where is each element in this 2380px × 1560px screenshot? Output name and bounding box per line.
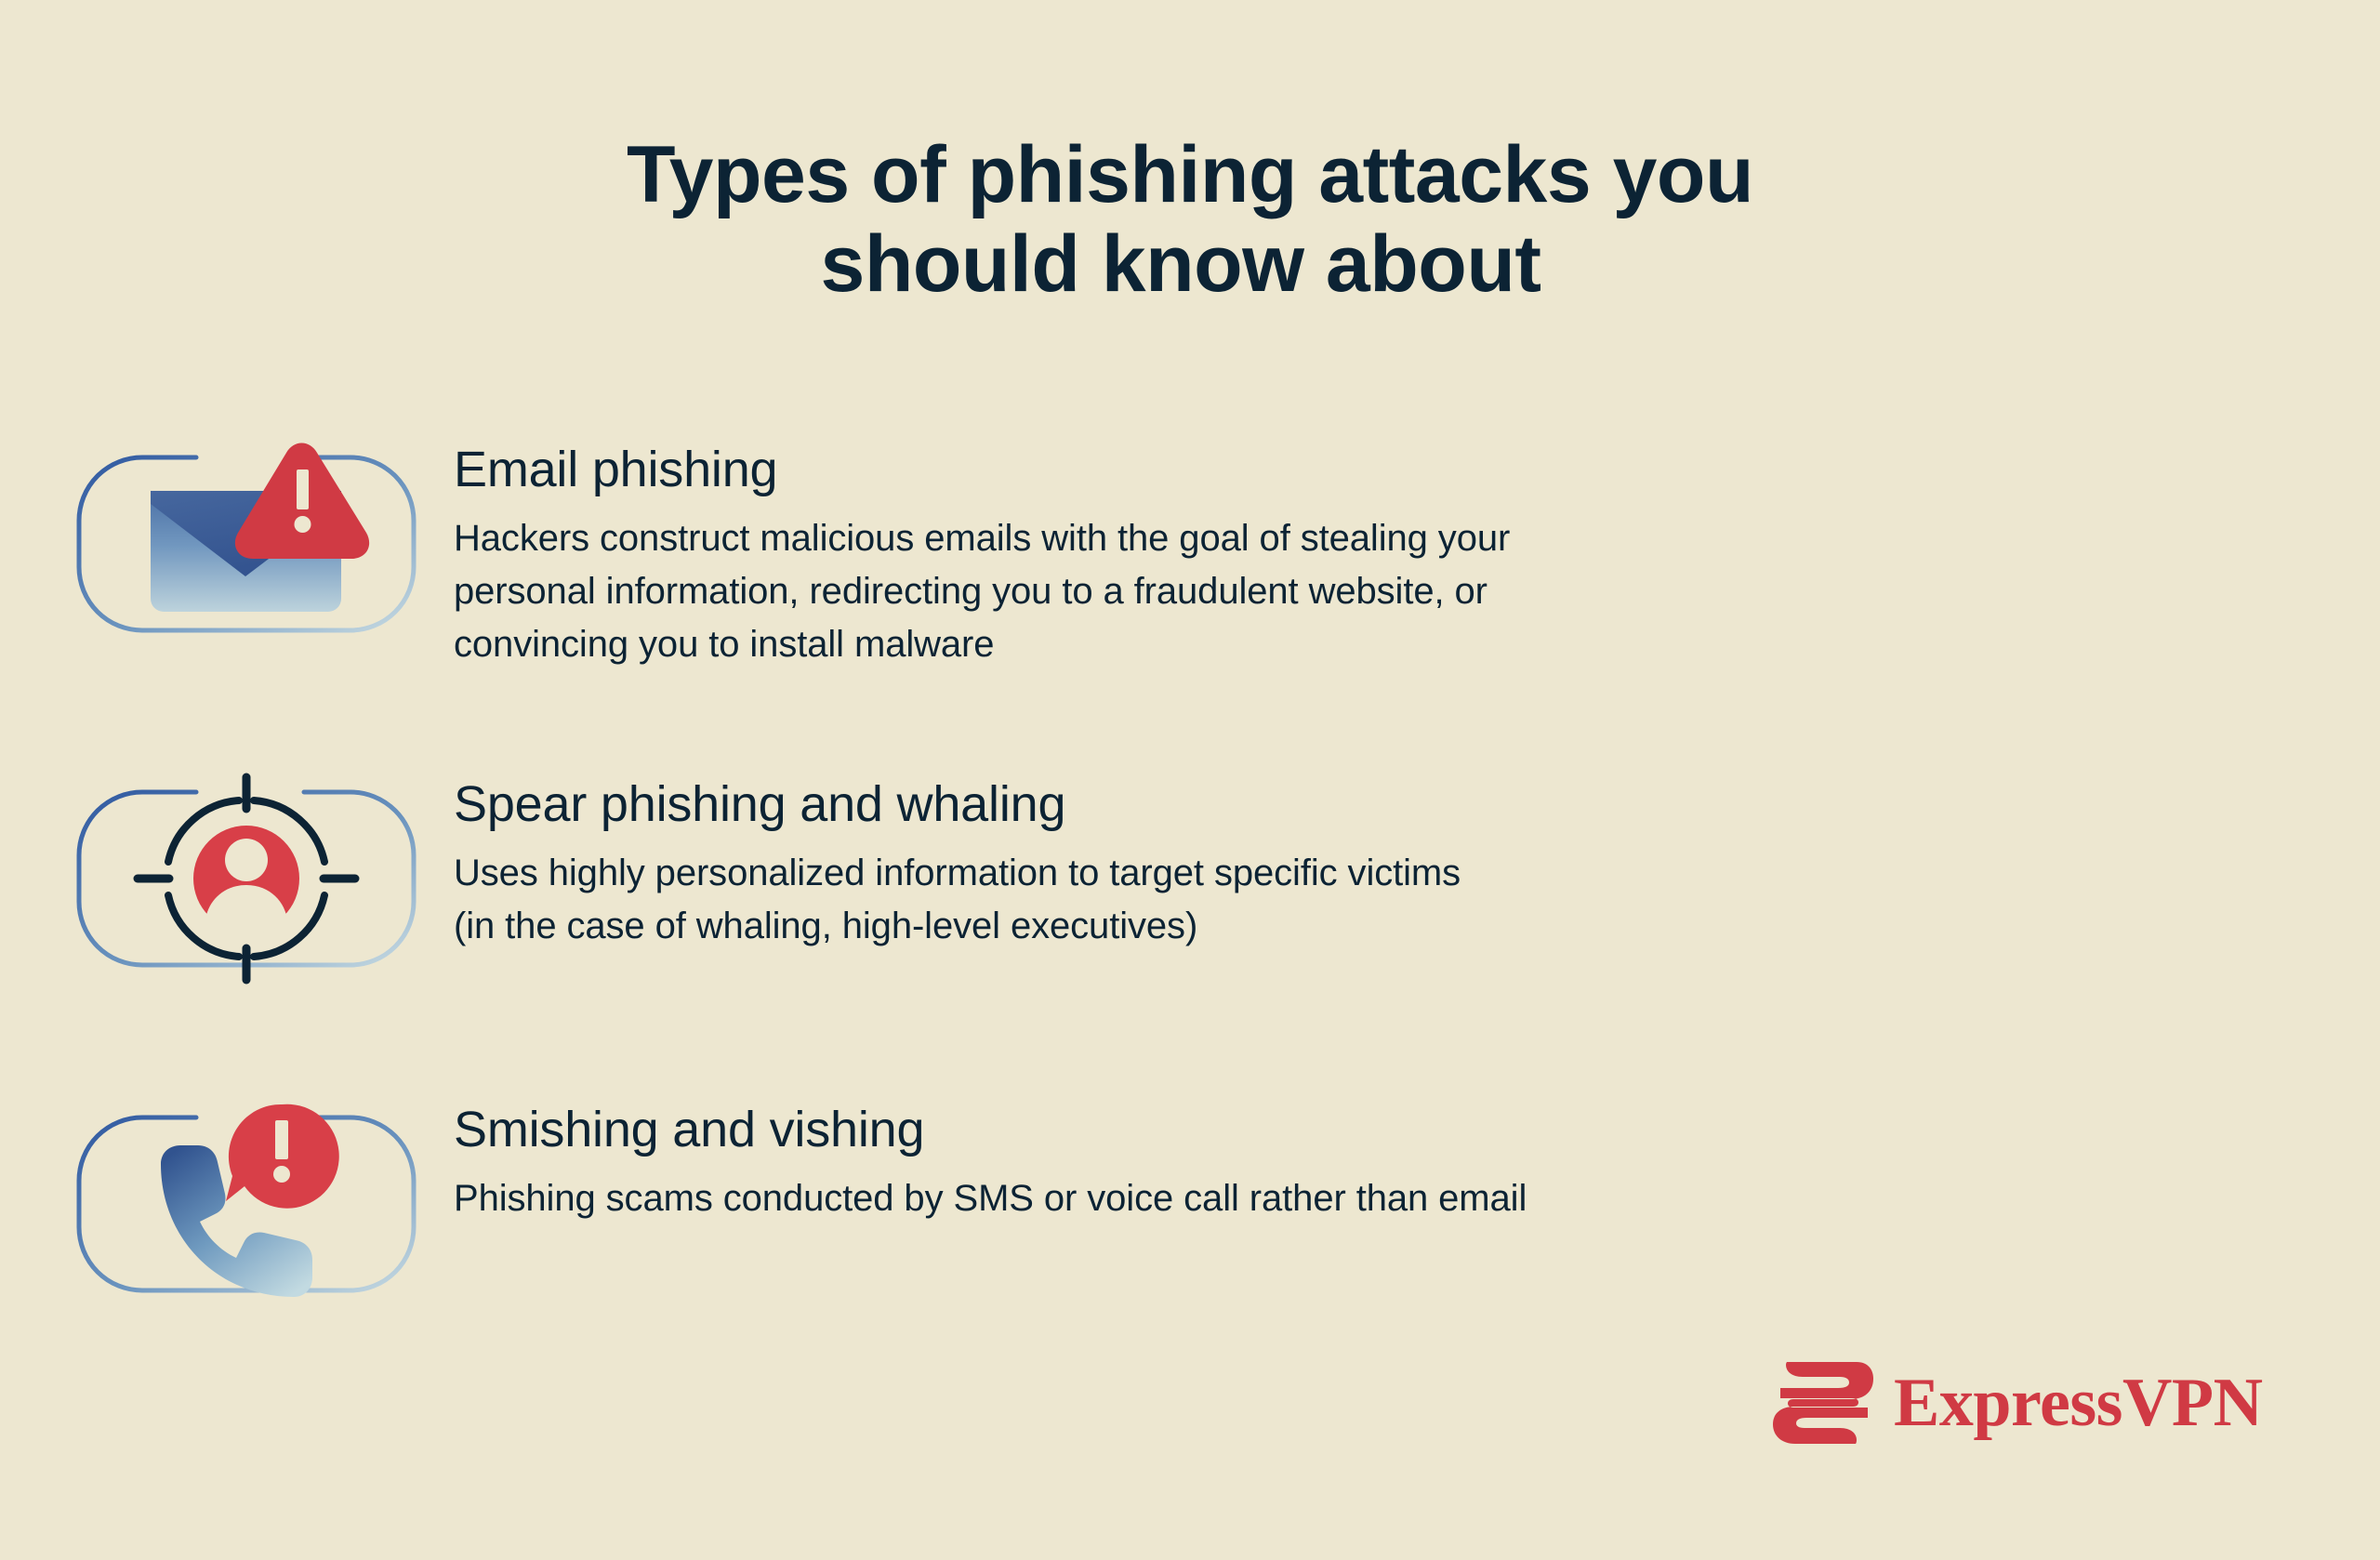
icon-cell-target xyxy=(0,772,446,985)
icon-cell-email xyxy=(0,437,446,651)
body-line: convincing you to install malware xyxy=(454,618,1690,671)
page-title: Types of phishing attacks you should kno… xyxy=(0,130,2380,310)
expressvpn-logo: ExpressVPN xyxy=(1771,1360,2263,1446)
section-heading-spear-phishing: Spear phishing and whaling xyxy=(454,777,2380,832)
section-body-spear-phishing: Uses highly personalized information to … xyxy=(454,847,1690,953)
icon-cell-phone xyxy=(0,1097,446,1311)
section-row-email-phishing: Email phishing Hackers construct malicio… xyxy=(0,437,2380,772)
email-warning-icon xyxy=(60,437,432,651)
expressvpn-wordmark: ExpressVPN xyxy=(1894,1368,2263,1437)
text-cell-email: Email phishing Hackers construct malicio… xyxy=(446,437,2380,671)
phone-alert-icon xyxy=(60,1097,432,1311)
page-title-line-2: should know about xyxy=(0,219,2380,309)
section-body-email-phishing: Hackers construct malicious emails with … xyxy=(454,512,1690,670)
text-cell-spear: Spear phishing and whaling Uses highly p… xyxy=(446,772,2380,953)
text-cell-smishing: Smishing and vishing Phishing scams cond… xyxy=(446,1097,2380,1225)
body-line: Phishing scams conducted by SMS or voice… xyxy=(454,1172,1690,1225)
sections-list: Email phishing Hackers construct malicio… xyxy=(0,437,2380,1404)
target-person-icon xyxy=(60,772,432,985)
section-row-spear-phishing: Spear phishing and whaling Uses highly p… xyxy=(0,772,2380,1097)
section-body-smishing-vishing: Phishing scams conducted by SMS or voice… xyxy=(454,1172,1690,1225)
body-line: (in the case of whaling, high-level exec… xyxy=(454,900,1690,953)
section-row-smishing-vishing: Smishing and vishing Phishing scams cond… xyxy=(0,1097,2380,1404)
body-line: Uses highly personalized information to … xyxy=(454,847,1690,900)
body-line: Hackers construct malicious emails with … xyxy=(454,512,1690,565)
page-title-line-1: Types of phishing attacks you xyxy=(0,130,2380,219)
expressvpn-mark-icon xyxy=(1771,1360,1873,1446)
section-heading-smishing-vishing: Smishing and vishing xyxy=(454,1103,2380,1157)
section-heading-email-phishing: Email phishing xyxy=(454,443,2380,497)
body-line: personal information, redirecting you to… xyxy=(454,565,1690,618)
